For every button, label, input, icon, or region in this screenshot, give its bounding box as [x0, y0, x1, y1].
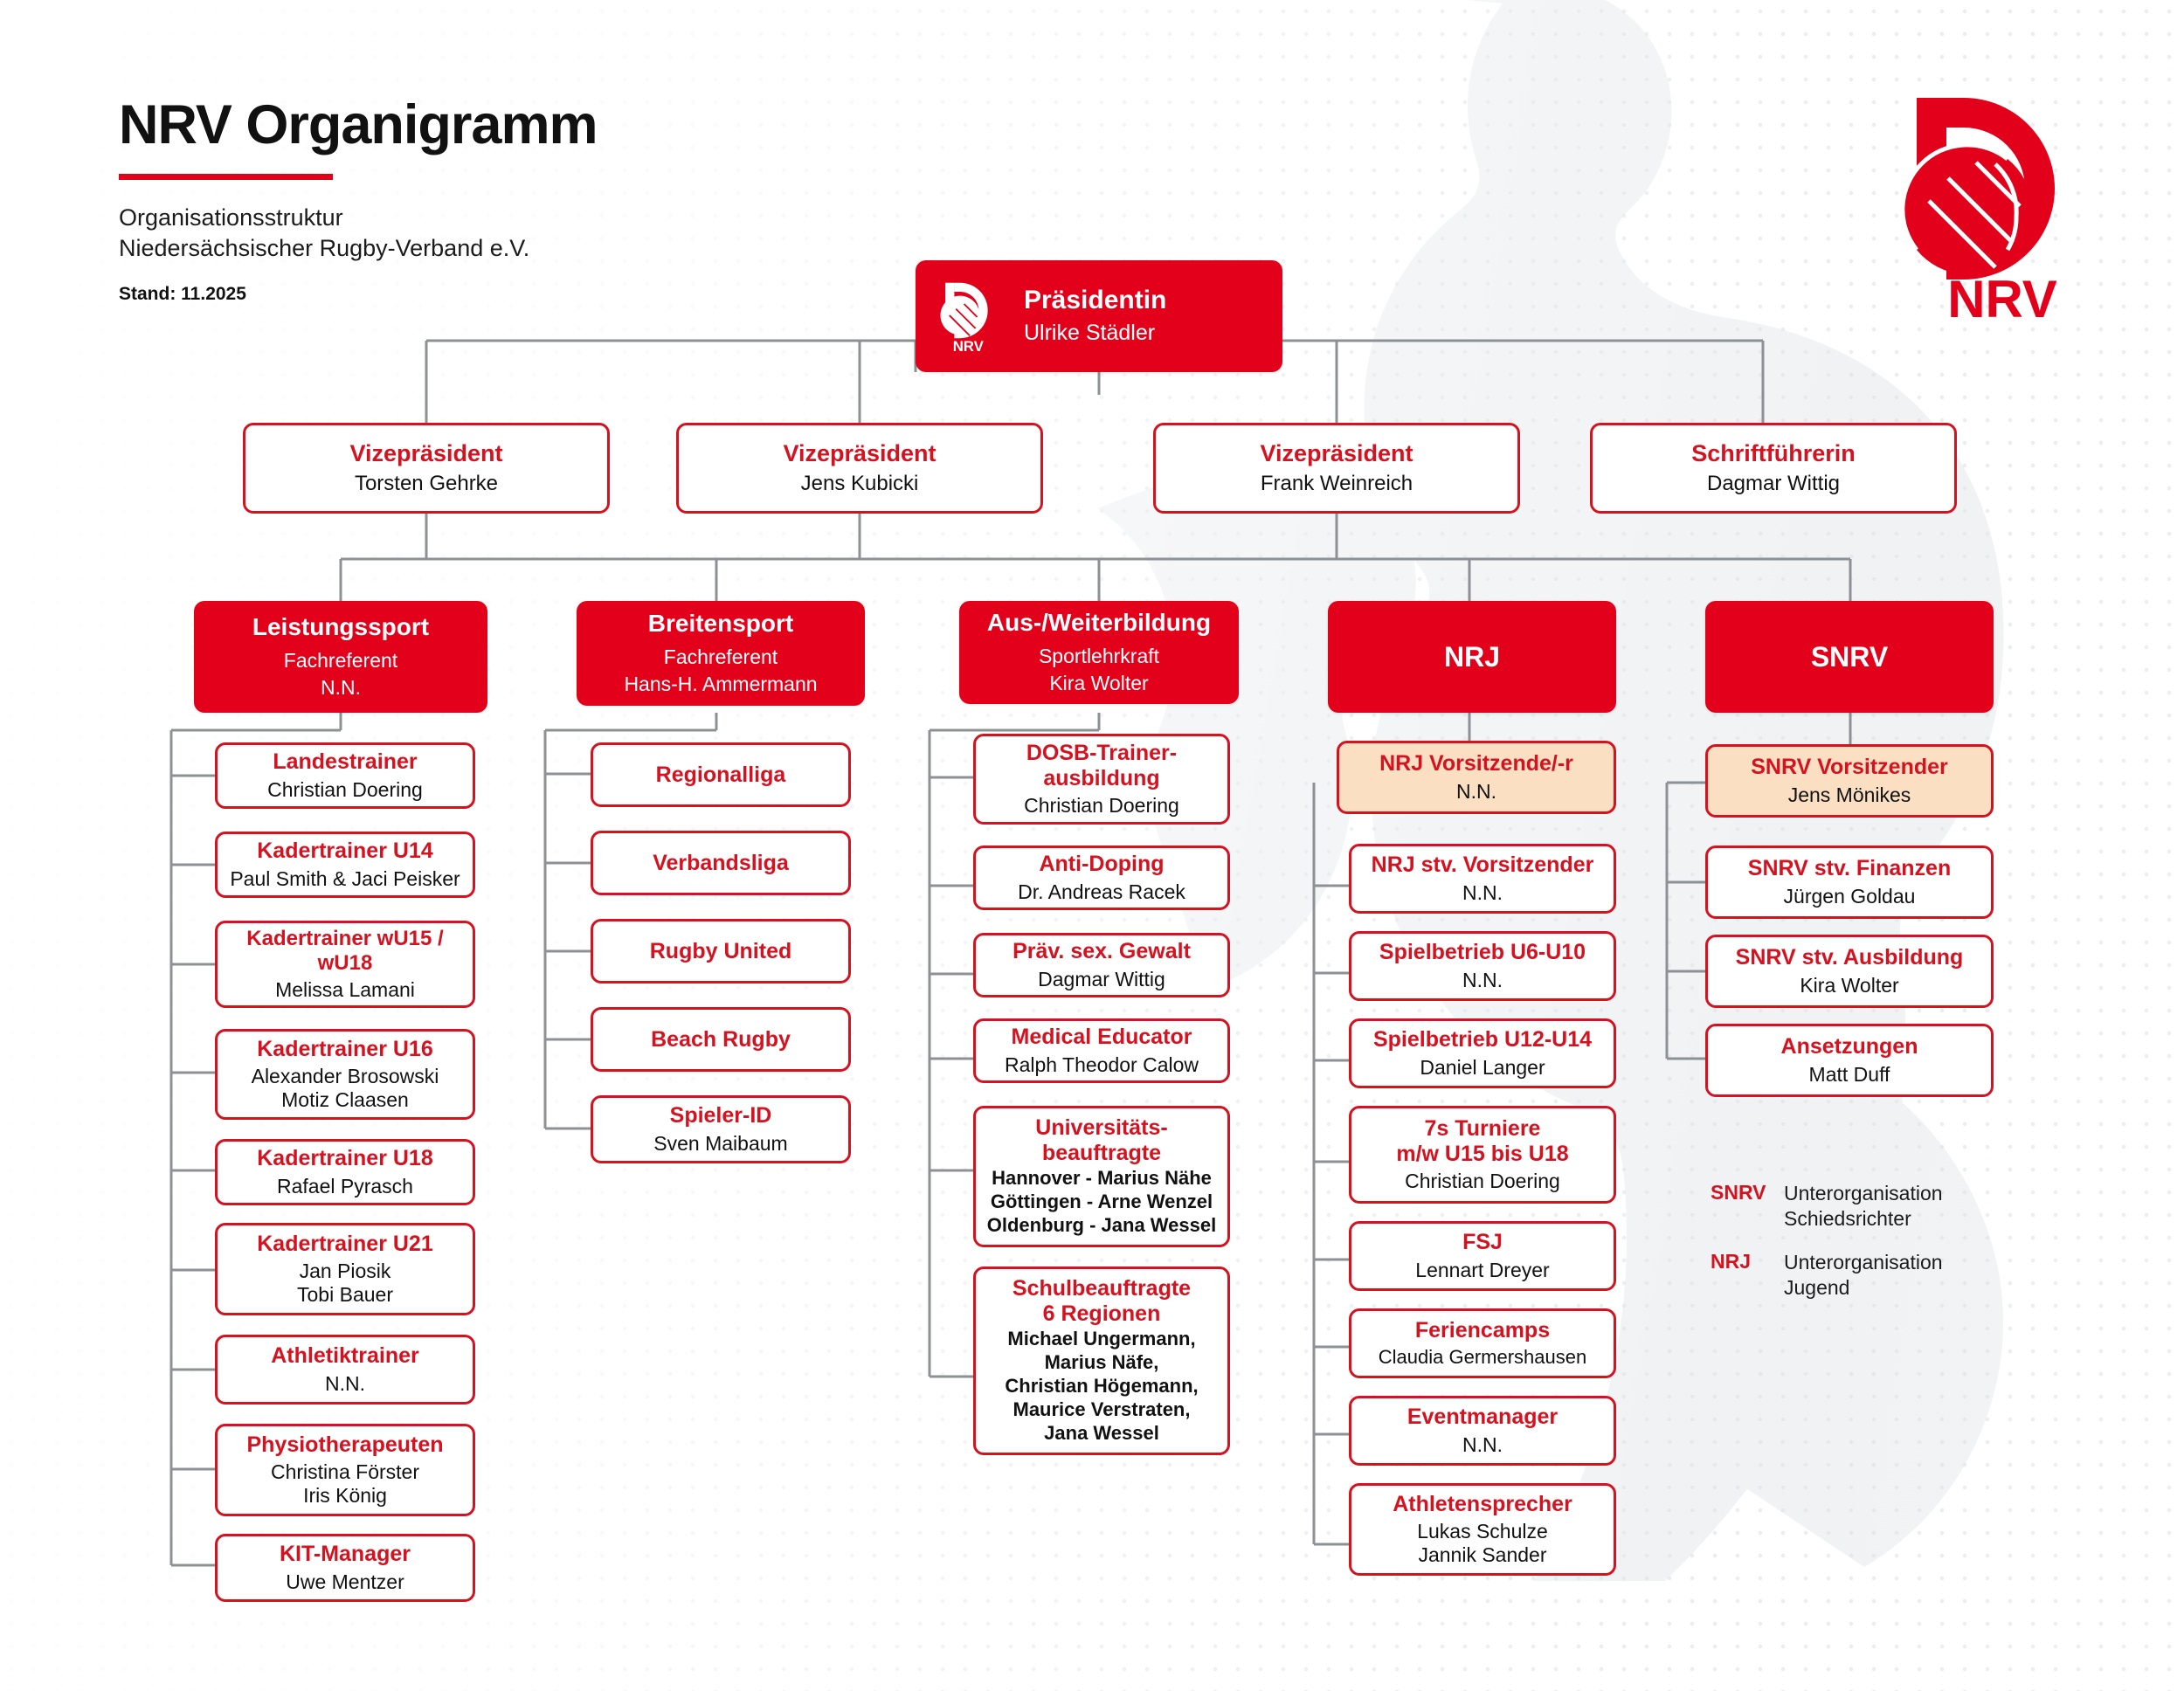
- leaf-name: Hannover - Marius Nähe: [992, 1167, 1212, 1191]
- leaf-title: Präv. sex. Gewalt: [1013, 939, 1191, 964]
- leaf-name: Dr. Andreas Racek: [1018, 880, 1185, 904]
- legend-value: Unterorganisation Schiedsrichter: [1784, 1181, 1943, 1231]
- leaf-title: SNRV stv. Finanzen: [1748, 856, 1951, 881]
- leaf-title: Feriencamps: [1415, 1318, 1550, 1343]
- leaf-regionalliga[interactable]: Regionalliga: [591, 742, 851, 807]
- legend: SNRV Unterorganisation Schiedsrichter NR…: [1711, 1181, 1943, 1319]
- leaf-dosb-trainerausbildung[interactable]: DOSB-Trainer- ausbildung Christian Doeri…: [973, 734, 1230, 825]
- leaf-title: FSJ: [1462, 1230, 1503, 1255]
- leaf-name: Kira Wolter: [1800, 974, 1898, 997]
- subtitle-line-1: Organisationsstruktur: [119, 203, 597, 233]
- legend-row-nrj: NRJ Unterorganisation Jugend: [1711, 1250, 1943, 1300]
- leaf-schulbeauftragte[interactable]: Schulbeauftragte 6 Regionen Michael Unge…: [973, 1267, 1230, 1455]
- leaf-name: Göttingen - Arne Wenzel: [991, 1191, 1213, 1214]
- leaf-name: Christian Högemann,: [1005, 1375, 1198, 1398]
- leaf-medical-educator[interactable]: Medical Educator Ralph Theodor Calow: [973, 1018, 1230, 1083]
- leaf-name: Jan Piosik: [300, 1260, 391, 1283]
- leaf-name: Iris König: [303, 1484, 387, 1508]
- leaf-name: Rafael Pyrasch: [277, 1175, 413, 1198]
- leaf-name: N.N.: [1462, 1433, 1503, 1457]
- department-title: Aus-/Weiterbildung: [987, 609, 1211, 637]
- officer-title: Vizepräsident: [783, 440, 936, 467]
- officer-box-vizepraesident-3[interactable]: Vizepräsident Frank Weinreich: [1153, 423, 1520, 514]
- leaf-anti-doping[interactable]: Anti-Doping Dr. Andreas Racek: [973, 845, 1230, 910]
- leaf-name: Sven Maibaum: [653, 1132, 787, 1156]
- leaf-kadertrainer-u21[interactable]: Kadertrainer U21 Jan Piosik Tobi Bauer: [215, 1223, 475, 1315]
- department-title: Leistungssport: [252, 613, 429, 641]
- leaf-name: Dagmar Wittig: [1038, 968, 1165, 991]
- department-title: SNRV: [1811, 641, 1888, 673]
- department-role: Sportlehrkraft: [1039, 644, 1159, 669]
- leaf-nrj-stv-vorsitzender[interactable]: NRJ stv. Vorsitzender N.N.: [1349, 844, 1616, 914]
- leaf-name: N.N.: [1462, 881, 1503, 905]
- leaf-verbandsliga[interactable]: Verbandsliga: [591, 831, 851, 895]
- leaf-name: Christina Förster: [271, 1460, 419, 1484]
- leaf-snrv-vorsitzender[interactable]: SNRV Vorsitzender Jens Mönikes: [1705, 744, 1994, 818]
- leaf-name: Paul Smith & Jaci Peisker: [230, 867, 460, 891]
- leaf-name: Claudia Germershausen: [1379, 1346, 1586, 1369]
- nrv-logo-icon: NRV: [1899, 87, 2105, 323]
- leaf-title: Universitäts- beauftragte: [1035, 1115, 1167, 1165]
- department-box-breitensport[interactable]: Breitensport Fachreferent Hans-H. Ammerm…: [577, 601, 865, 706]
- leaf-name: Christian Doering: [267, 778, 423, 802]
- leaf-nrj-vorsitzende[interactable]: NRJ Vorsitzende/-r N.N.: [1337, 741, 1616, 814]
- officer-name: Torsten Gehrke: [355, 472, 498, 496]
- leaf-title: NRJ Vorsitzende/-r: [1379, 751, 1573, 776]
- leaf-title: Rugby United: [650, 939, 792, 964]
- president-name: Ulrike Städler: [1024, 320, 1166, 347]
- leaf-title: SNRV stv. Ausbildung: [1736, 945, 1964, 970]
- leaf-name: Christian Doering: [1024, 794, 1179, 818]
- leaf-title: Kadertrainer U14: [257, 839, 432, 864]
- leaf-kadertrainer-wu15-wu18[interactable]: Kadertrainer wU15 / wU18 Melissa Lamani: [215, 921, 475, 1008]
- department-title: NRJ: [1444, 641, 1500, 673]
- leaf-title: Regionalliga: [656, 763, 786, 788]
- leaf-7s-turniere[interactable]: 7s Turniere m/w U15 bis U18 Christian Do…: [1349, 1106, 1616, 1204]
- title-underline-rule: [119, 174, 333, 180]
- leaf-name: Jana Wessel: [1044, 1422, 1159, 1446]
- subtitle-line-2: Niedersächsischer Rugby-Verband e.V.: [119, 233, 597, 264]
- leaf-name: Alexander Brosowski: [252, 1065, 439, 1088]
- leaf-name: Matt Duff: [1809, 1063, 1890, 1087]
- officer-box-schriftfuehrerin[interactable]: Schriftführerin Dagmar Wittig: [1590, 423, 1957, 514]
- leaf-eventmanager[interactable]: Eventmanager N.N.: [1349, 1396, 1616, 1466]
- leaf-title: Spielbetrieb U12-U14: [1373, 1027, 1592, 1053]
- leaf-title: Physiotherapeuten: [246, 1432, 443, 1458]
- officer-name: Jens Kubicki: [801, 472, 919, 496]
- leaf-ansetzungen[interactable]: Ansetzungen Matt Duff: [1705, 1024, 1994, 1097]
- leaf-physiotherapeuten[interactable]: Physiotherapeuten Christina Förster Iris…: [215, 1424, 475, 1516]
- svg-text:NRV: NRV: [953, 338, 985, 353]
- officer-box-vizepraesident-1[interactable]: Vizepräsident Torsten Gehrke: [243, 423, 610, 514]
- leaf-name: Michael Ungermann,: [1007, 1328, 1195, 1351]
- leaf-name: Motiz Claasen: [281, 1088, 409, 1112]
- leaf-name: N.N.: [1462, 969, 1503, 992]
- department-box-leistungssport[interactable]: Leistungssport Fachreferent N.N.: [194, 601, 487, 713]
- officer-title: Vizepräsident: [349, 440, 502, 467]
- department-role: Fachreferent: [664, 645, 778, 670]
- leaf-name: Daniel Langer: [1420, 1056, 1545, 1080]
- department-person: N.N.: [321, 675, 361, 701]
- officer-name: Frank Weinreich: [1261, 472, 1413, 496]
- leaf-title: Beach Rugby: [651, 1027, 791, 1053]
- leaf-title: Athletensprecher: [1393, 1492, 1572, 1517]
- department-box-ausweiterbildung[interactable]: Aus-/Weiterbildung Sportlehrkraft Kira W…: [959, 601, 1239, 704]
- leaf-title: Landestrainer: [273, 749, 417, 775]
- leaf-rugby-united[interactable]: Rugby United: [591, 919, 851, 984]
- leaf-snrv-stv-finanzen[interactable]: SNRV stv. Finanzen Jürgen Goldau: [1705, 845, 1994, 919]
- department-box-snrv[interactable]: SNRV: [1705, 601, 1994, 713]
- page-title: NRV Organigramm: [119, 98, 597, 153]
- leaf-title: 7s Turniere m/w U15 bis U18: [1396, 1116, 1568, 1166]
- leaf-name: Marius Näfe,: [1045, 1351, 1159, 1375]
- leaf-title: Anti-Doping: [1039, 852, 1164, 877]
- legend-row-snrv: SNRV Unterorganisation Schiedsrichter: [1711, 1181, 1943, 1231]
- officer-title: Schriftführerin: [1691, 440, 1856, 467]
- leaf-name: Lennart Dreyer: [1415, 1259, 1549, 1282]
- legend-value: Unterorganisation Jugend: [1784, 1250, 1943, 1300]
- leaf-title: Kadertrainer U16: [257, 1037, 432, 1062]
- leaf-name: N.N.: [325, 1372, 365, 1396]
- leaf-name: Lukas Schulze: [1417, 1520, 1548, 1543]
- leaf-title: Medical Educator: [1012, 1025, 1192, 1050]
- leaf-fsj[interactable]: FSJ Lennart Dreyer: [1349, 1221, 1616, 1291]
- department-person: Hans-H. Ammermann: [624, 672, 817, 697]
- leaf-name: Jens Mönikes: [1788, 783, 1911, 807]
- nrv-logo-wordmark: NRV: [1947, 270, 2057, 323]
- legend-key: SNRV: [1711, 1181, 1784, 1231]
- leaf-title: Spieler-ID: [670, 1103, 772, 1128]
- date-stand-label: Stand: 11.2025: [119, 284, 597, 305]
- department-person: Kira Wolter: [1049, 671, 1148, 696]
- leaf-name: Ralph Theodor Calow: [1005, 1053, 1199, 1077]
- officer-name: Dagmar Wittig: [1707, 472, 1840, 496]
- leaf-name: Maurice Verstraten,: [1013, 1398, 1191, 1422]
- leaf-title: Athletiktrainer: [271, 1343, 418, 1369]
- leaf-title: Kadertrainer U21: [257, 1232, 432, 1257]
- leaf-spielbetrieb-u12-u14[interactable]: Spielbetrieb U12-U14 Daniel Langer: [1349, 1018, 1616, 1088]
- department-title: Breitensport: [648, 610, 793, 638]
- leaf-title: NRJ stv. Vorsitzender: [1372, 852, 1594, 878]
- leaf-title: Kadertrainer U18: [257, 1146, 432, 1171]
- leaf-name: Jürgen Goldau: [1784, 885, 1916, 908]
- leaf-kadertrainer-u16[interactable]: Kadertrainer U16 Alexander Brosowski Mot…: [215, 1029, 475, 1120]
- leaf-name: Jannik Sander: [1418, 1543, 1546, 1567]
- leaf-name: Christian Doering: [1405, 1170, 1560, 1193]
- officer-box-vizepraesident-2[interactable]: Vizepräsident Jens Kubicki: [676, 423, 1043, 514]
- leaf-name: Uwe Mentzer: [286, 1570, 404, 1594]
- leaf-praev-sex-gewalt[interactable]: Präv. sex. Gewalt Dagmar Wittig: [973, 933, 1230, 997]
- legend-key: NRJ: [1711, 1250, 1784, 1300]
- leaf-title: Kadertrainer wU15 / wU18: [218, 927, 473, 975]
- leaf-name: N.N.: [1456, 780, 1496, 804]
- leaf-kadertrainer-u18[interactable]: Kadertrainer U18 Rafael Pyrasch: [215, 1139, 475, 1205]
- leaf-feriencamps[interactable]: Feriencamps Claudia Germershausen: [1349, 1308, 1616, 1378]
- leaf-title: KIT-Manager: [280, 1542, 411, 1567]
- leaf-spieler-id[interactable]: Spieler-ID Sven Maibaum: [591, 1095, 851, 1163]
- department-box-nrj[interactable]: NRJ: [1328, 601, 1616, 713]
- nrv-logo-small-icon: NRV: [938, 280, 1005, 353]
- officer-title: Vizepräsident: [1260, 440, 1413, 467]
- leaf-title: Eventmanager: [1407, 1405, 1558, 1430]
- leaf-title: DOSB-Trainer- ausbildung: [1026, 741, 1177, 790]
- leaf-kadertrainer-u14[interactable]: Kadertrainer U14 Paul Smith & Jaci Peisk…: [215, 832, 475, 898]
- leaf-athletensprecher[interactable]: Athletensprecher Lukas Schulze Jannik Sa…: [1349, 1483, 1616, 1576]
- president-title: Präsidentin: [1024, 286, 1166, 316]
- leaf-name: Melissa Lamani: [275, 978, 415, 1002]
- leaf-athletiktrainer[interactable]: Athletiktrainer N.N.: [215, 1335, 475, 1405]
- organigramm-page: NRV Organigramm Organisationsstruktur Ni…: [0, 0, 2184, 1691]
- leaf-name: Tobi Bauer: [297, 1283, 393, 1307]
- leaf-title: SNRV Vorsitzender: [1751, 755, 1948, 780]
- leaf-beach-rugby[interactable]: Beach Rugby: [591, 1007, 851, 1072]
- leaf-landestrainer[interactable]: Landestrainer Christian Doering: [215, 742, 475, 809]
- leaf-title: Ansetzungen: [1781, 1034, 1918, 1059]
- leaf-title: Verbandsliga: [653, 851, 789, 876]
- page-header: NRV Organigramm Organisationsstruktur Ni…: [119, 98, 597, 305]
- leaf-kit-manager[interactable]: KIT-Manager Uwe Mentzer: [215, 1534, 475, 1602]
- department-role: Fachreferent: [284, 648, 397, 673]
- leaf-spielbetrieb-u6-u10[interactable]: Spielbetrieb U6-U10 N.N.: [1349, 931, 1616, 1001]
- leaf-name: Oldenburg - Jana Wessel: [987, 1214, 1216, 1238]
- leaf-universitaetsbeauftragte[interactable]: Universitäts- beauftragte Hannover - Mar…: [973, 1106, 1230, 1247]
- leaf-title: Spielbetrieb U6-U10: [1379, 940, 1586, 965]
- leaf-title: Schulbeauftragte 6 Regionen: [1013, 1276, 1191, 1326]
- president-box[interactable]: NRV Präsidentin Ulrike Städler: [916, 260, 1282, 372]
- leaf-snrv-stv-ausbildung[interactable]: SNRV stv. Ausbildung Kira Wolter: [1705, 935, 1994, 1008]
